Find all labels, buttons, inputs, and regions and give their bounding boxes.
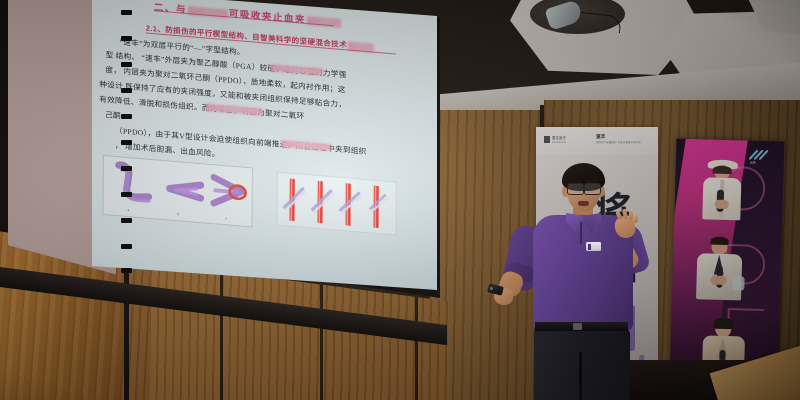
eyeglasses-lens-left-icon bbox=[567, 183, 584, 195]
speaker-mouth bbox=[578, 201, 589, 206]
bar-clip-illustrations bbox=[281, 176, 393, 231]
clicker-button-icon[interactable] bbox=[490, 287, 493, 290]
clip-illustration-b bbox=[160, 177, 205, 207]
speaker-shirt-placket bbox=[580, 222, 582, 244]
speaker-name-badge bbox=[586, 242, 601, 251]
banner-logo-secondary-sub: 国内首个能量固定 专业可吸收专用夹系 bbox=[596, 141, 650, 144]
banner-model-2 bbox=[686, 235, 754, 303]
banner-right-brand-logo-icon: 品牌 bbox=[748, 149, 778, 166]
banner-left-header: 壹生医疗 Surestone 速丰 国内首个能量固定 专业可吸收专用夹系 bbox=[536, 127, 658, 156]
figure-right bbox=[276, 172, 396, 236]
eyeglasses-lens-right-icon bbox=[584, 183, 601, 195]
presentation-room-photo: 二、与可吸收夹止血夹 2.1、防损伤的平行楔型结构、目智美科学的坚硬混合技术 “… bbox=[0, 0, 800, 400]
brand-logo-icon bbox=[544, 136, 550, 143]
belt-buckle-icon bbox=[573, 323, 582, 330]
banner-right: 品牌 bbox=[670, 139, 785, 392]
speaker-eyebrow-left bbox=[568, 180, 581, 182]
screen-rail-hooks bbox=[121, 0, 133, 300]
clip-illustration-c bbox=[208, 173, 250, 217]
projected-slide: 二、与可吸收夹止血夹 2.1、防损伤的平行楔型结构、目智美科学的坚硬混合技术 “… bbox=[92, 0, 437, 290]
speaker-pants bbox=[534, 328, 630, 400]
figure-label-b: b bbox=[177, 212, 179, 216]
speaker-eyebrow-right bbox=[585, 180, 598, 182]
banner-logo-secondary: 速丰 bbox=[596, 134, 606, 140]
banner-model-1 bbox=[690, 157, 752, 223]
slide-body-line: 己酮 bbox=[105, 109, 121, 121]
figure-label-c: c bbox=[225, 216, 227, 220]
speaker-leg-seam bbox=[579, 352, 582, 400]
banner-logo-primary-sub: Surestone bbox=[552, 140, 567, 144]
eyeglasses-bridge-icon bbox=[581, 187, 585, 188]
